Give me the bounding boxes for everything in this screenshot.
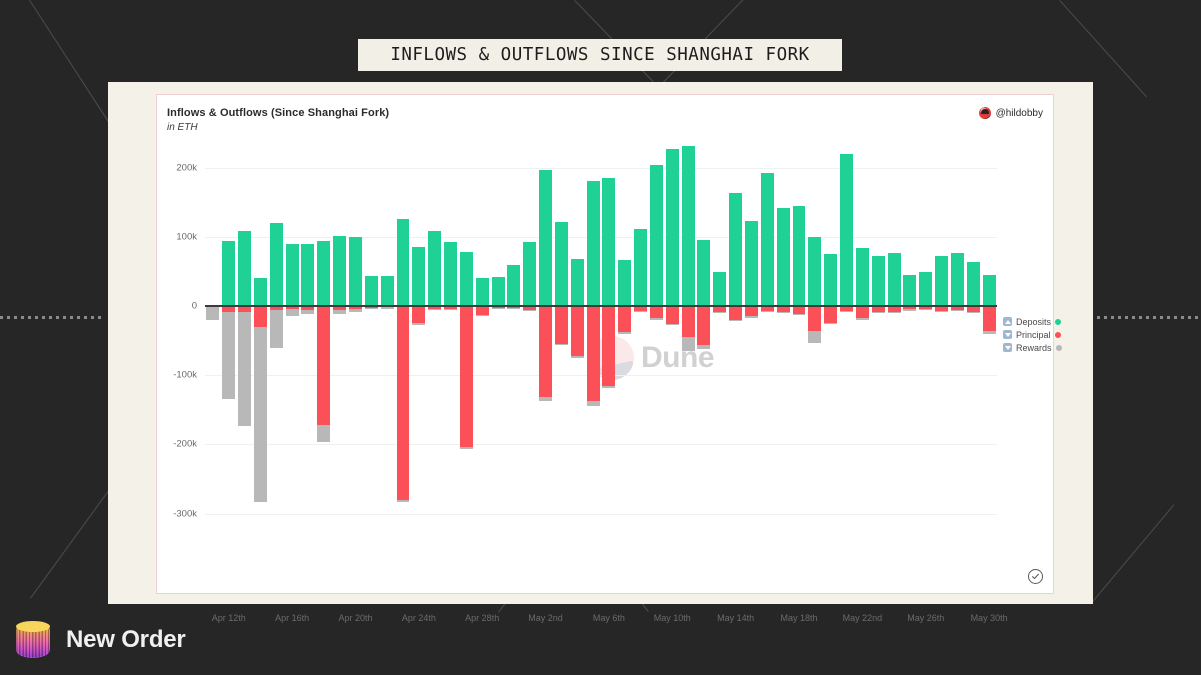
bar-segment-rewards: [476, 315, 489, 316]
bar-segment-principal: [808, 306, 821, 331]
bar-segment-deposits: [428, 231, 441, 306]
bar-segment-principal: [824, 306, 837, 323]
bar-segment-rewards: [903, 309, 916, 310]
screenshot-root: INFLOWS & OUTFLOWS SINCE SHANGHAI FORK I…: [0, 0, 1201, 675]
bar-group[interactable]: [618, 140, 631, 555]
bar-segment-principal: [682, 306, 695, 337]
arrow-down-square-icon: [1003, 343, 1012, 352]
bar-group[interactable]: [206, 140, 219, 555]
bar-segment-deposits: [650, 165, 663, 306]
bar-group[interactable]: [507, 140, 520, 555]
bar-group[interactable]: [983, 140, 996, 555]
bar-segment-rewards: [951, 310, 964, 311]
bar-group[interactable]: [317, 140, 330, 555]
bar-group[interactable]: [967, 140, 980, 555]
bar-segment-rewards: [729, 320, 742, 321]
bar-segment-rewards: [301, 310, 314, 313]
bar-segment-rewards: [808, 331, 821, 343]
bar-segment-rewards: [539, 397, 552, 401]
bar-segment-principal: [745, 306, 758, 316]
bar-segment-rewards: [745, 316, 758, 317]
bar-segment-deposits: [444, 242, 457, 306]
bar-group[interactable]: [492, 140, 505, 555]
bar-group[interactable]: [650, 140, 663, 555]
bar-group[interactable]: [428, 140, 441, 555]
bar-group[interactable]: [602, 140, 615, 555]
bar-segment-deposits: [872, 256, 885, 306]
x-axis-tick-label: May 14th: [717, 613, 754, 623]
bar-segment-rewards: [571, 356, 584, 357]
bar-segment-rewards: [967, 312, 980, 313]
bar-segment-rewards: [397, 500, 410, 501]
bar-group[interactable]: [824, 140, 837, 555]
bar-segment-deposits: [349, 237, 362, 306]
decorative-line: [30, 477, 119, 599]
bar-segment-deposits: [983, 275, 996, 306]
x-axis-tick-label: May 30th: [971, 613, 1008, 623]
bar-segment-deposits: [618, 260, 631, 306]
legend-label: Rewards: [1016, 343, 1052, 353]
decorative-rail-left: [0, 316, 104, 319]
bar-group[interactable]: [682, 140, 695, 555]
bar-segment-principal: [460, 306, 473, 447]
bar-group[interactable]: [412, 140, 425, 555]
bar-group[interactable]: [460, 140, 473, 555]
bar-segment-rewards: [618, 332, 631, 333]
bar-segment-principal: [729, 306, 742, 320]
bar-segment-rewards: [381, 307, 394, 308]
bar-segment-deposits: [713, 272, 726, 306]
bar-segment-deposits: [317, 241, 330, 306]
bar-segment-principal: [983, 306, 996, 331]
bar-segment-rewards: [935, 311, 948, 312]
bar-segment-principal: [650, 306, 663, 318]
bar-group[interactable]: [808, 140, 821, 555]
bar-group[interactable]: [713, 140, 726, 555]
bar-segment-deposits: [761, 173, 774, 306]
x-axis-tick-label: Apr 20th: [338, 613, 372, 623]
bar-segment-principal: [618, 306, 631, 332]
y-axis-tick-label: -200k: [173, 439, 197, 450]
bar-group[interactable]: [381, 140, 394, 555]
arrow-down-square-icon: [1003, 330, 1012, 339]
brand-name: New Order: [66, 626, 186, 654]
bar-segment-deposits: [808, 237, 821, 306]
bar-group[interactable]: [951, 140, 964, 555]
bar-group[interactable]: [634, 140, 647, 555]
x-axis-tick-label: May 26th: [907, 613, 944, 623]
bar-segment-deposits: [793, 206, 806, 306]
bar-group[interactable]: [888, 140, 901, 555]
bar-segment-rewards: [507, 308, 520, 309]
bar-group[interactable]: [523, 140, 536, 555]
bar-segment-deposits: [539, 170, 552, 306]
bar-segment-rewards: [777, 312, 790, 313]
bar-segment-principal: [317, 306, 330, 425]
bar-group[interactable]: [444, 140, 457, 555]
bar-segment-principal: [476, 306, 489, 315]
bar-segment-deposits: [682, 146, 695, 306]
author-handle: @hildobby: [996, 108, 1043, 119]
bar-group[interactable]: [666, 140, 679, 555]
bar-segment-deposits: [951, 253, 964, 306]
bar-segment-deposits: [507, 265, 520, 306]
bar-segment-principal: [587, 306, 600, 401]
bar-segment-deposits: [919, 272, 932, 306]
bar-segment-principal: [555, 306, 568, 344]
check-circle-icon[interactable]: [1028, 569, 1043, 584]
bar-segment-deposits: [571, 259, 584, 306]
bar-segment-deposits: [856, 248, 869, 306]
bar-segment-deposits: [476, 278, 489, 306]
bar-segment-rewards: [254, 327, 267, 502]
bar-group[interactable]: [555, 140, 568, 555]
bar-segment-rewards: [824, 323, 837, 324]
bar-segment-deposits: [333, 236, 346, 306]
chart-subtitle: in ETH: [167, 122, 389, 133]
bar-segment-deposits: [301, 244, 314, 306]
bar-segment-rewards: [840, 311, 853, 312]
bar-group[interactable]: [571, 140, 584, 555]
y-axis-tick-label: -100k: [173, 370, 197, 381]
bar-segment-rewards: [793, 314, 806, 315]
bar-segment-rewards: [333, 310, 346, 314]
bar-segment-deposits: [777, 208, 790, 306]
bar-segment-deposits: [666, 149, 679, 306]
bar-segment-principal: [856, 306, 869, 318]
bar-segment-deposits: [492, 277, 505, 306]
bar-group[interactable]: [222, 140, 235, 555]
bar-segment-deposits: [286, 244, 299, 306]
x-axis-tick-label: May 10th: [654, 613, 691, 623]
chart-legend: DepositsPrincipalRewards: [1003, 315, 1133, 354]
bar-segment-rewards: [317, 425, 330, 442]
brand-footer: New Order: [12, 619, 186, 661]
bar-segment-deposits: [381, 276, 394, 306]
chart-plot-area: Dune DepositsPrincipalRewards 200k100k0-…: [205, 140, 997, 555]
bar-segment-deposits: [460, 252, 473, 306]
bar-segment-deposits: [412, 247, 425, 306]
bar-segment-principal: [602, 306, 615, 386]
bar-segment-deposits: [824, 254, 837, 306]
bar-segment-principal: [254, 306, 267, 327]
bar-segment-deposits: [365, 276, 378, 306]
bar-segment-rewards: [983, 331, 996, 334]
x-axis-tick-label: May 6th: [593, 613, 625, 623]
bar-segment-rewards: [206, 307, 219, 319]
bar-segment-deposits: [602, 178, 615, 306]
bar-segment-rewards: [856, 318, 869, 319]
chart-header: Inflows & Outflows (Since Shanghai Fork)…: [167, 107, 389, 133]
bar-group[interactable]: [697, 140, 710, 555]
bar-group[interactable]: [349, 140, 362, 555]
bar-group[interactable]: [840, 140, 853, 555]
bar-segment-deposits: [697, 240, 710, 306]
bar-segment-rewards: [460, 447, 473, 449]
bar-segment-rewards: [919, 309, 932, 310]
legend-item-principal[interactable]: Principal: [1003, 328, 1133, 341]
bar-segment-rewards: [602, 386, 615, 388]
bar-group[interactable]: [872, 140, 885, 555]
bar-segment-rewards: [238, 312, 251, 427]
striped-cylinder-logo-icon: [12, 619, 54, 661]
bar-segment-principal: [793, 306, 806, 314]
y-axis-tick-label: 200k: [176, 162, 197, 173]
bar-segment-deposits: [238, 231, 251, 306]
bar-group[interactable]: [238, 140, 251, 555]
x-axis-tick-label: May 2nd: [528, 613, 563, 623]
arrow-up-square-icon: [1003, 317, 1012, 326]
legend-color-swatch: [1055, 319, 1061, 325]
bar-segment-rewards: [349, 309, 362, 311]
decorative-line: [29, 0, 112, 126]
bar-group[interactable]: [761, 140, 774, 555]
x-axis-tick-label: May 22nd: [843, 613, 883, 623]
bar-group[interactable]: [777, 140, 790, 555]
bar-group[interactable]: [729, 140, 742, 555]
bar-segment-rewards: [492, 308, 505, 309]
x-axis-tick-label: Apr 12th: [212, 613, 246, 623]
bar-segment-rewards: [365, 308, 378, 309]
bar-group[interactable]: [301, 140, 314, 555]
legend-item-rewards[interactable]: Rewards: [1003, 341, 1133, 354]
bar-segment-deposits: [222, 241, 235, 306]
bar-segment-deposits: [888, 253, 901, 306]
legend-label: Principal: [1016, 330, 1051, 340]
bar-segment-principal: [397, 306, 410, 500]
bar-group[interactable]: [270, 140, 283, 555]
bar-segment-rewards: [682, 337, 695, 351]
bar-segment-rewards: [270, 310, 283, 348]
bar-segment-rewards: [888, 312, 901, 313]
y-axis-tick-label: -300k: [173, 508, 197, 519]
dune-chart-card: Inflows & Outflows (Since Shanghai Fork)…: [156, 94, 1054, 594]
bar-segment-rewards: [222, 312, 235, 398]
legend-color-swatch: [1056, 345, 1062, 351]
bar-segment-rewards: [587, 401, 600, 405]
zero-axis-line: [205, 305, 997, 307]
legend-item-deposits[interactable]: Deposits: [1003, 315, 1133, 328]
bar-segment-deposits: [967, 262, 980, 306]
bar-group[interactable]: [903, 140, 916, 555]
author-attribution[interactable]: @hildobby: [979, 107, 1043, 119]
bar-segment-principal: [666, 306, 679, 324]
bar-group[interactable]: [856, 140, 869, 555]
chart-title: Inflows & Outflows (Since Shanghai Fork): [167, 107, 389, 119]
x-axis-tick-label: Apr 16th: [275, 613, 309, 623]
bar-segment-deposits: [840, 154, 853, 306]
bar-group[interactable]: [476, 140, 489, 555]
bar-segment-rewards: [444, 309, 457, 310]
user-avatar: [979, 107, 991, 119]
decorative-line: [1090, 504, 1174, 604]
headline-text: INFLOWS & OUTFLOWS SINCE SHANGHAI FORK: [390, 45, 809, 65]
bar-group[interactable]: [397, 140, 410, 555]
bar-segment-rewards: [286, 309, 299, 316]
bar-group[interactable]: [254, 140, 267, 555]
x-axis-tick-label: May 18th: [780, 613, 817, 623]
bar-group[interactable]: [745, 140, 758, 555]
bar-segment-deposits: [397, 219, 410, 306]
bar-segment-deposits: [634, 229, 647, 306]
bar-group[interactable]: [333, 140, 346, 555]
bar-group[interactable]: [539, 140, 552, 555]
bar-segment-deposits: [935, 256, 948, 306]
x-axis-tick-label: Apr 24th: [402, 613, 436, 623]
bar-segment-rewards: [872, 312, 885, 313]
bar-segment-rewards: [412, 323, 425, 325]
bar-segment-principal: [539, 306, 552, 397]
bar-group[interactable]: [919, 140, 932, 555]
bar-segment-deposits: [523, 242, 536, 306]
bar-segment-rewards: [523, 310, 536, 311]
bar-segment-principal: [412, 306, 425, 323]
bar-segment-deposits: [270, 223, 283, 306]
bar-segment-deposits: [903, 275, 916, 306]
bar-segment-rewards: [761, 311, 774, 312]
bar-segment-principal: [571, 306, 584, 356]
bar-segment-rewards: [428, 309, 441, 310]
bar-segment-deposits: [729, 193, 742, 306]
bar-segment-deposits: [745, 221, 758, 306]
bar-segment-rewards: [713, 312, 726, 313]
bar-segment-rewards: [555, 344, 568, 345]
bar-segment-rewards: [666, 324, 679, 325]
bar-group[interactable]: [587, 140, 600, 555]
y-axis-tick-label: 100k: [176, 231, 197, 242]
bar-group[interactable]: [365, 140, 378, 555]
bar-group[interactable]: [793, 140, 806, 555]
bar-segment-rewards: [697, 345, 710, 348]
legend-color-swatch: [1055, 332, 1061, 338]
bar-segment-rewards: [650, 318, 663, 319]
bar-segment-deposits: [555, 222, 568, 306]
slide-panel: Inflows & Outflows (Since Shanghai Fork)…: [108, 82, 1093, 604]
bar-segment-principal: [697, 306, 710, 345]
headline-banner: INFLOWS & OUTFLOWS SINCE SHANGHAI FORK: [358, 39, 842, 71]
bar-segment-deposits: [254, 278, 267, 306]
x-axis-tick-label: Apr 28th: [465, 613, 499, 623]
bar-segment-rewards: [634, 311, 647, 312]
y-axis-tick-label: 0: [192, 301, 197, 312]
bar-group[interactable]: [935, 140, 948, 555]
bar-group[interactable]: [286, 140, 299, 555]
bar-segment-deposits: [587, 181, 600, 306]
legend-label: Deposits: [1016, 317, 1051, 327]
